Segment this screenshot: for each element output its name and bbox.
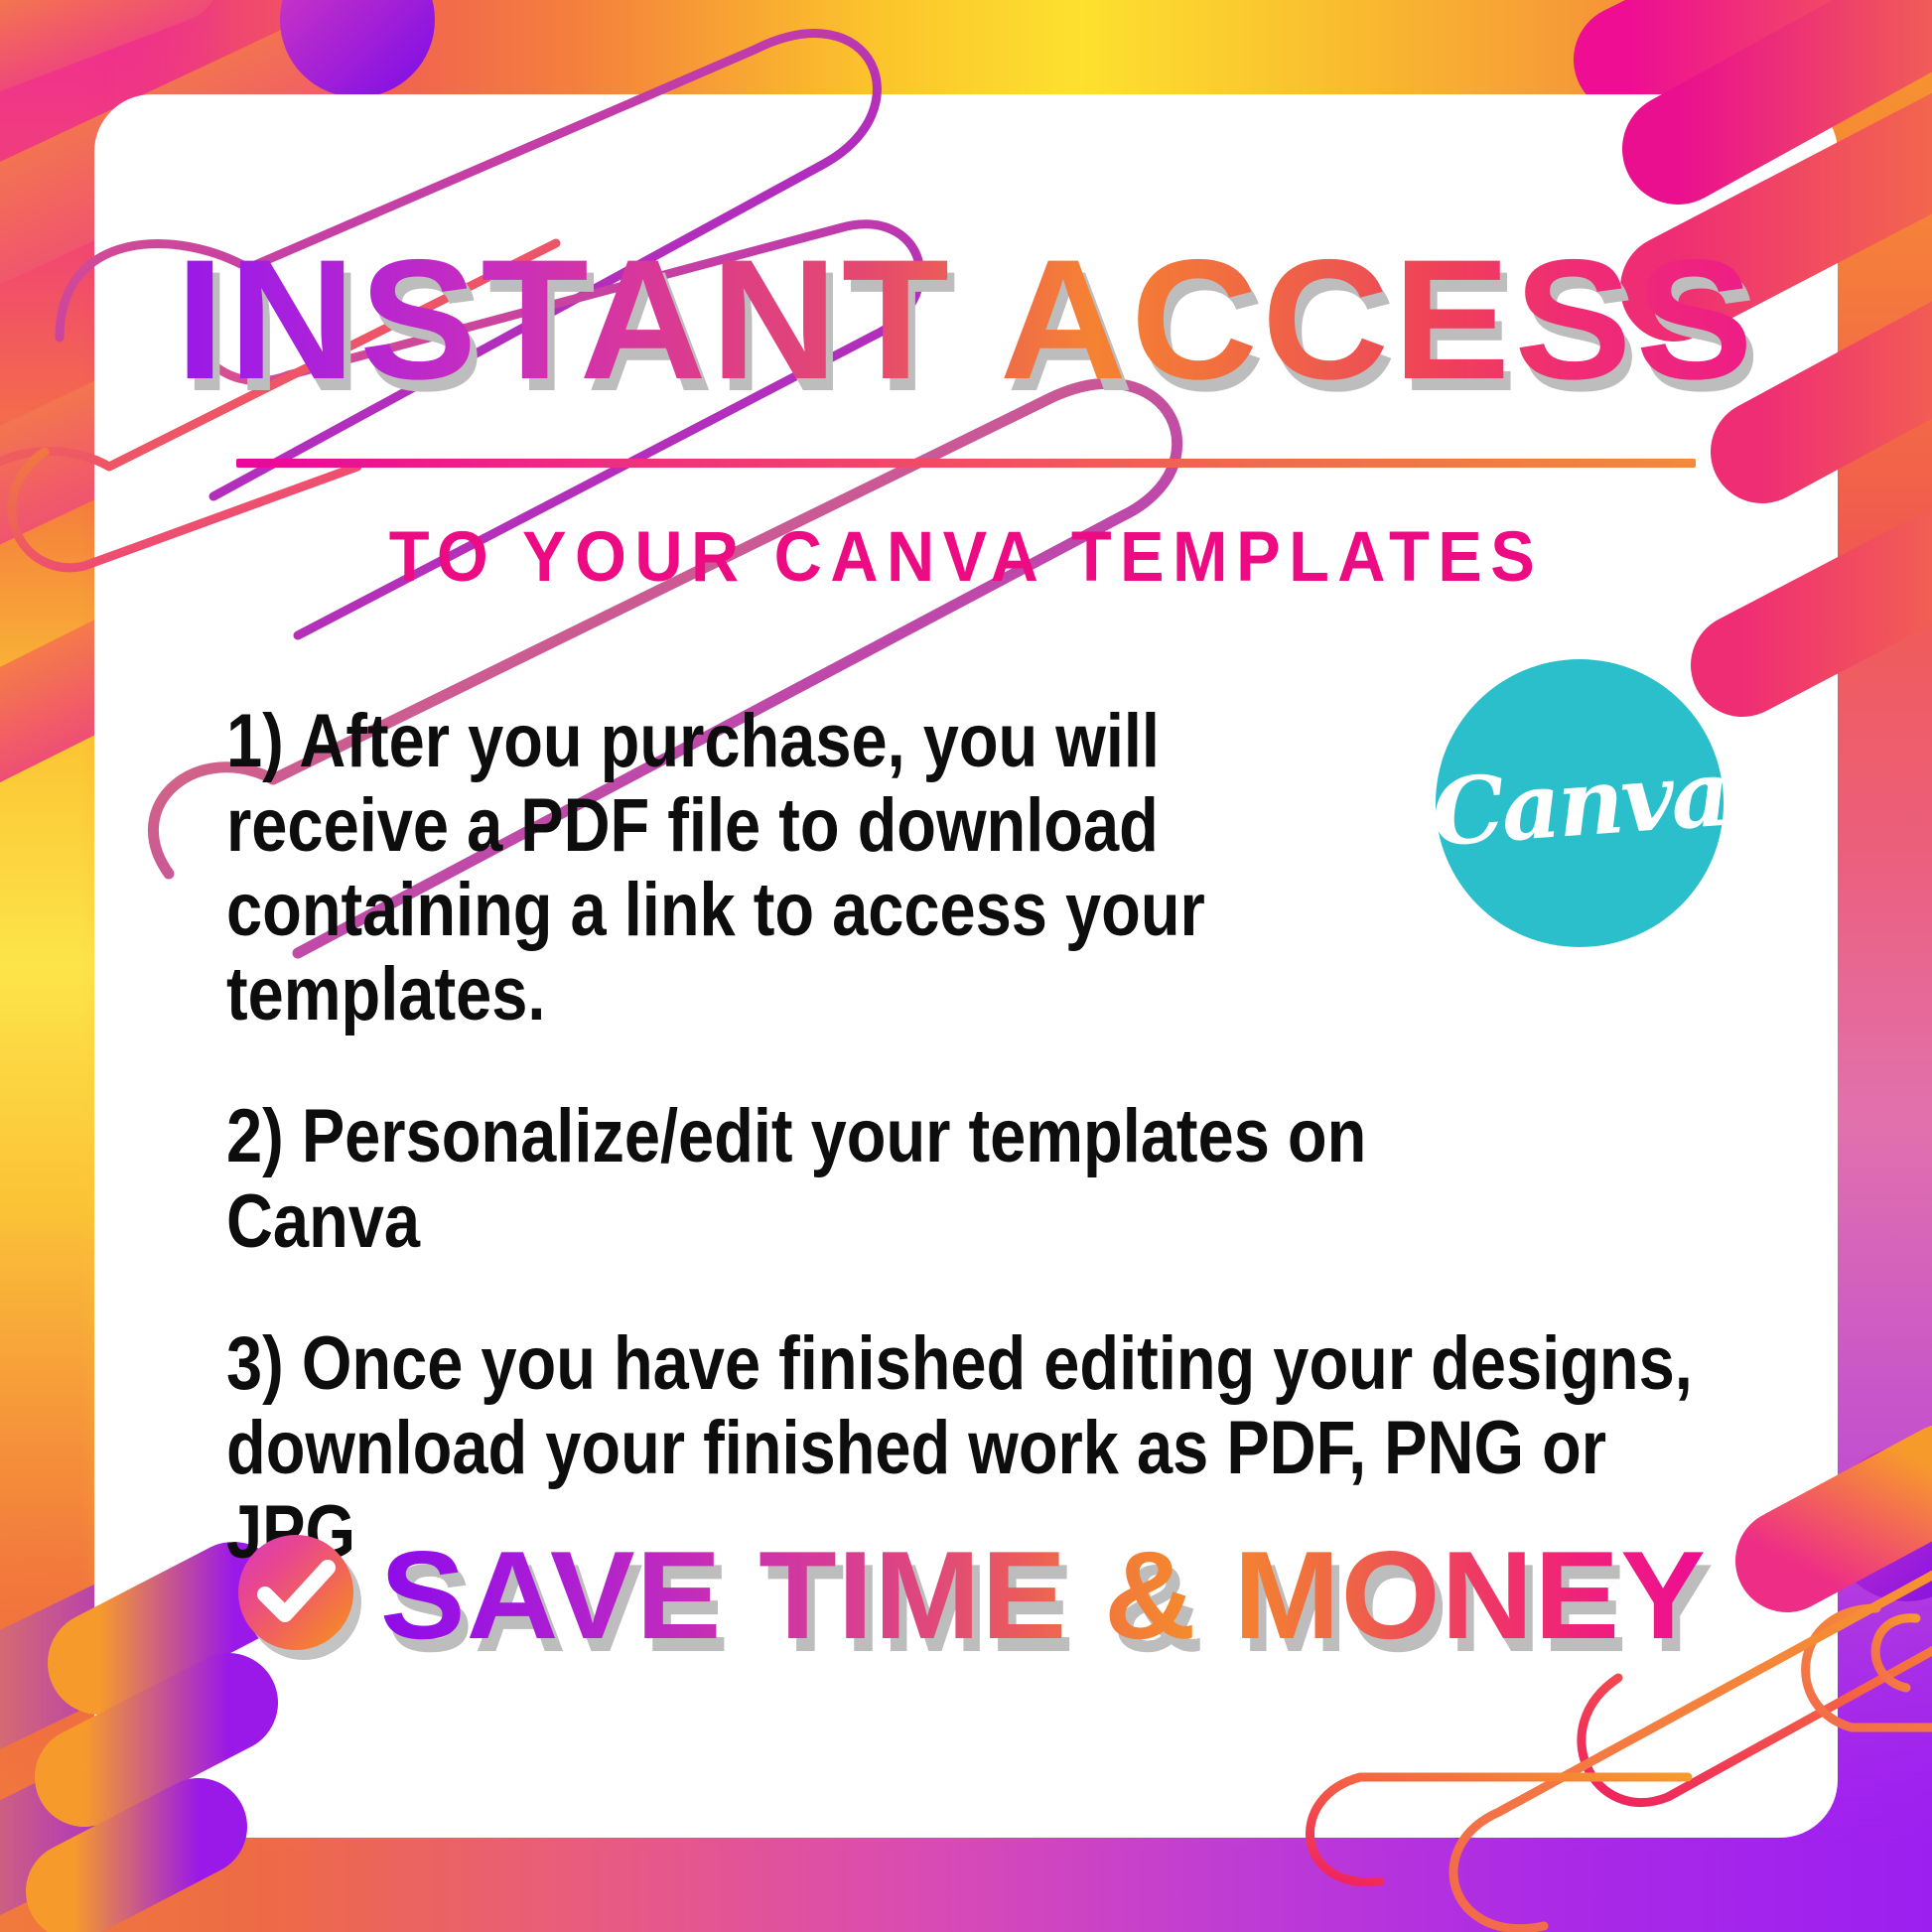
title-block: INSTANT ACCESS INSTANT ACCESS — [0, 234, 1932, 405]
check-mark-icon — [238, 1535, 353, 1650]
steps-list: 1) After you purchase, you will receive … — [226, 699, 1465, 1575]
banner-title: SAVE TIME & MONEY SAVE TIME & MONEY — [393, 1533, 1694, 1658]
canva-wordmark: Canva — [1429, 748, 1729, 860]
list-item: 1) After you purchase, you will receive … — [226, 699, 1279, 1036]
list-item: 2) Personalize/edit your templates on Ca… — [226, 1094, 1465, 1263]
page-title-text: INSTANT ACCESS — [175, 224, 1756, 415]
banner-title-text: SAVE TIME & MONEY — [380, 1533, 1707, 1658]
poster-canvas: INSTANT ACCESS INSTANT ACCESS TO YOUR CA… — [0, 0, 1932, 1932]
canva-logo: Canva — [1436, 659, 1724, 947]
check-circle-icon — [238, 1535, 359, 1656]
title-divider — [236, 459, 1696, 468]
page-subtitle: TO YOUR CANVA TEMPLATES — [58, 517, 1873, 598]
bottom-banner: SAVE TIME & MONEY SAVE TIME & MONEY — [0, 1533, 1932, 1658]
page-title: INSTANT ACCESS INSTANT ACCESS — [175, 234, 1756, 405]
